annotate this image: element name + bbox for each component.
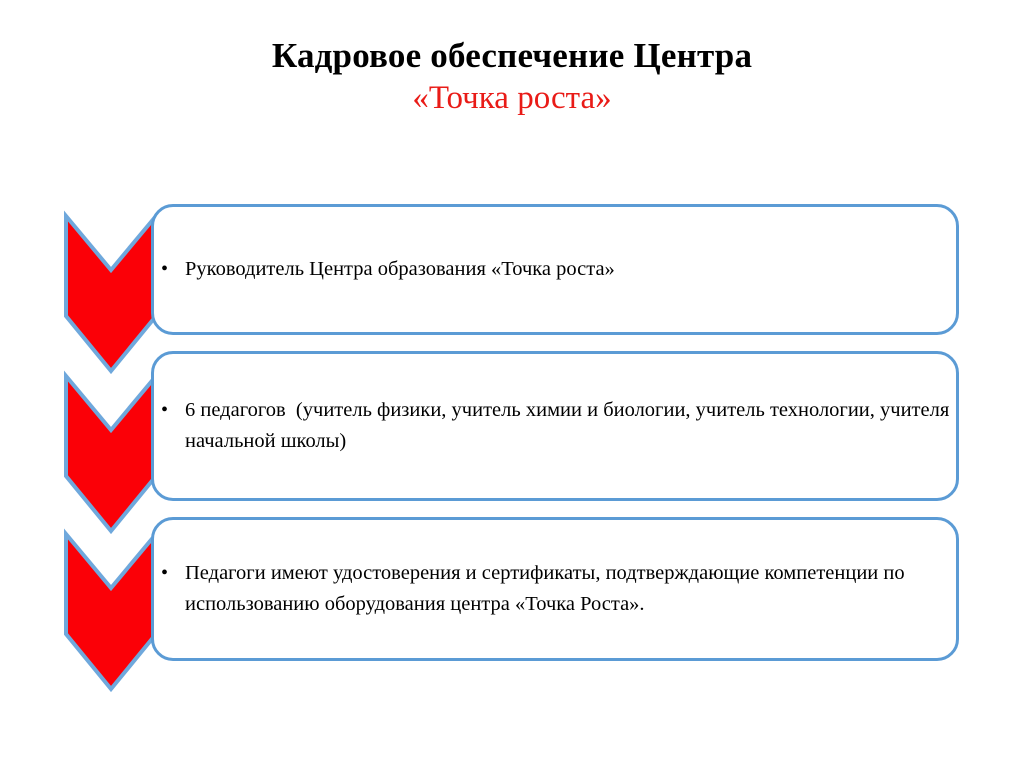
chevron-down-arrow-icon [64,530,158,693]
bullet-marker: • [161,558,185,589]
bullet-row: • 6 педагогов (учитель физики, учитель х… [154,395,956,457]
bullet-row: • Педагоги имеют удостоверения и сертифи… [154,558,956,620]
callout-text: 6 педагогов (учитель физики, учитель хим… [185,395,956,457]
chevron-down-arrow-icon [64,372,158,535]
chevron-down-arrow-icon [64,212,158,375]
bullet-marker: • [161,395,185,426]
callout-box[interactable]: • Руководитель Центра образования «Точка… [151,204,959,335]
callout-text: Руководитель Центра образования «Точка р… [185,254,615,285]
staffing-diagram: • Руководитель Центра образования «Точка… [0,0,1024,767]
callout-box[interactable]: • Педагоги имеют удостоверения и сертифи… [151,517,959,661]
callout-box[interactable]: • 6 педагогов (учитель физики, учитель х… [151,351,959,501]
bullet-row: • Руководитель Центра образования «Точка… [154,254,615,285]
bullet-marker: • [161,254,185,285]
callout-text: Педагоги имеют удостоверения и сертифика… [185,558,956,620]
